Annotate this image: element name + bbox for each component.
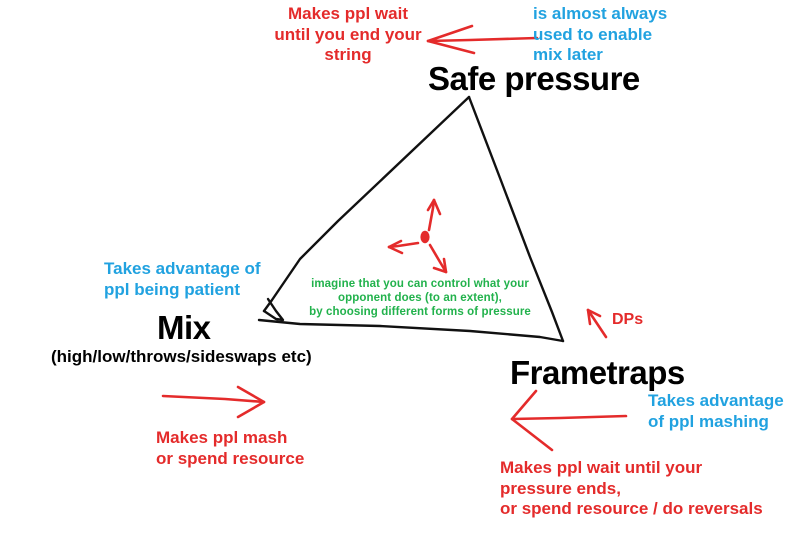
annotation-right: Takes advantage of ppl mashing — [648, 391, 810, 432]
annotation-dps: DPs — [612, 310, 643, 330]
diagram-canvas: Makes ppl wait until you end your string… — [0, 0, 810, 535]
annotation-bottom-left: Makes ppl mash or spend resource — [156, 428, 386, 469]
annotation-center: imagine that you can control what your o… — [300, 277, 540, 319]
arrow-right-icon-bottom-left — [163, 387, 264, 417]
vertex-label-safe-pressure: Safe pressure — [428, 59, 640, 99]
annotation-bottom-right: Makes ppl wait until your pressure ends,… — [500, 458, 800, 520]
annotation-top-right: is almost always used to enable mix late… — [533, 4, 733, 66]
red-dot-marker — [420, 231, 429, 243]
vertex-label-frametraps: Frametraps — [510, 353, 685, 393]
arrow-left-icon-bottom-right — [512, 391, 626, 450]
arrow-down-right-icon — [430, 245, 446, 272]
vertex-label-mix: Mix — [157, 308, 211, 348]
vertex-sublabel-mix: (high/low/throws/sideswaps etc) — [51, 347, 312, 368]
arrow-up-left-icon — [588, 310, 606, 337]
annotation-left: Takes advantage of ppl being patient — [104, 259, 304, 300]
arrow-up-icon — [428, 200, 440, 230]
annotation-top-left: Makes ppl wait until you end your string — [258, 4, 438, 66]
arrow-left-icon-top — [428, 26, 537, 53]
arrow-left-icon — [389, 241, 418, 253]
